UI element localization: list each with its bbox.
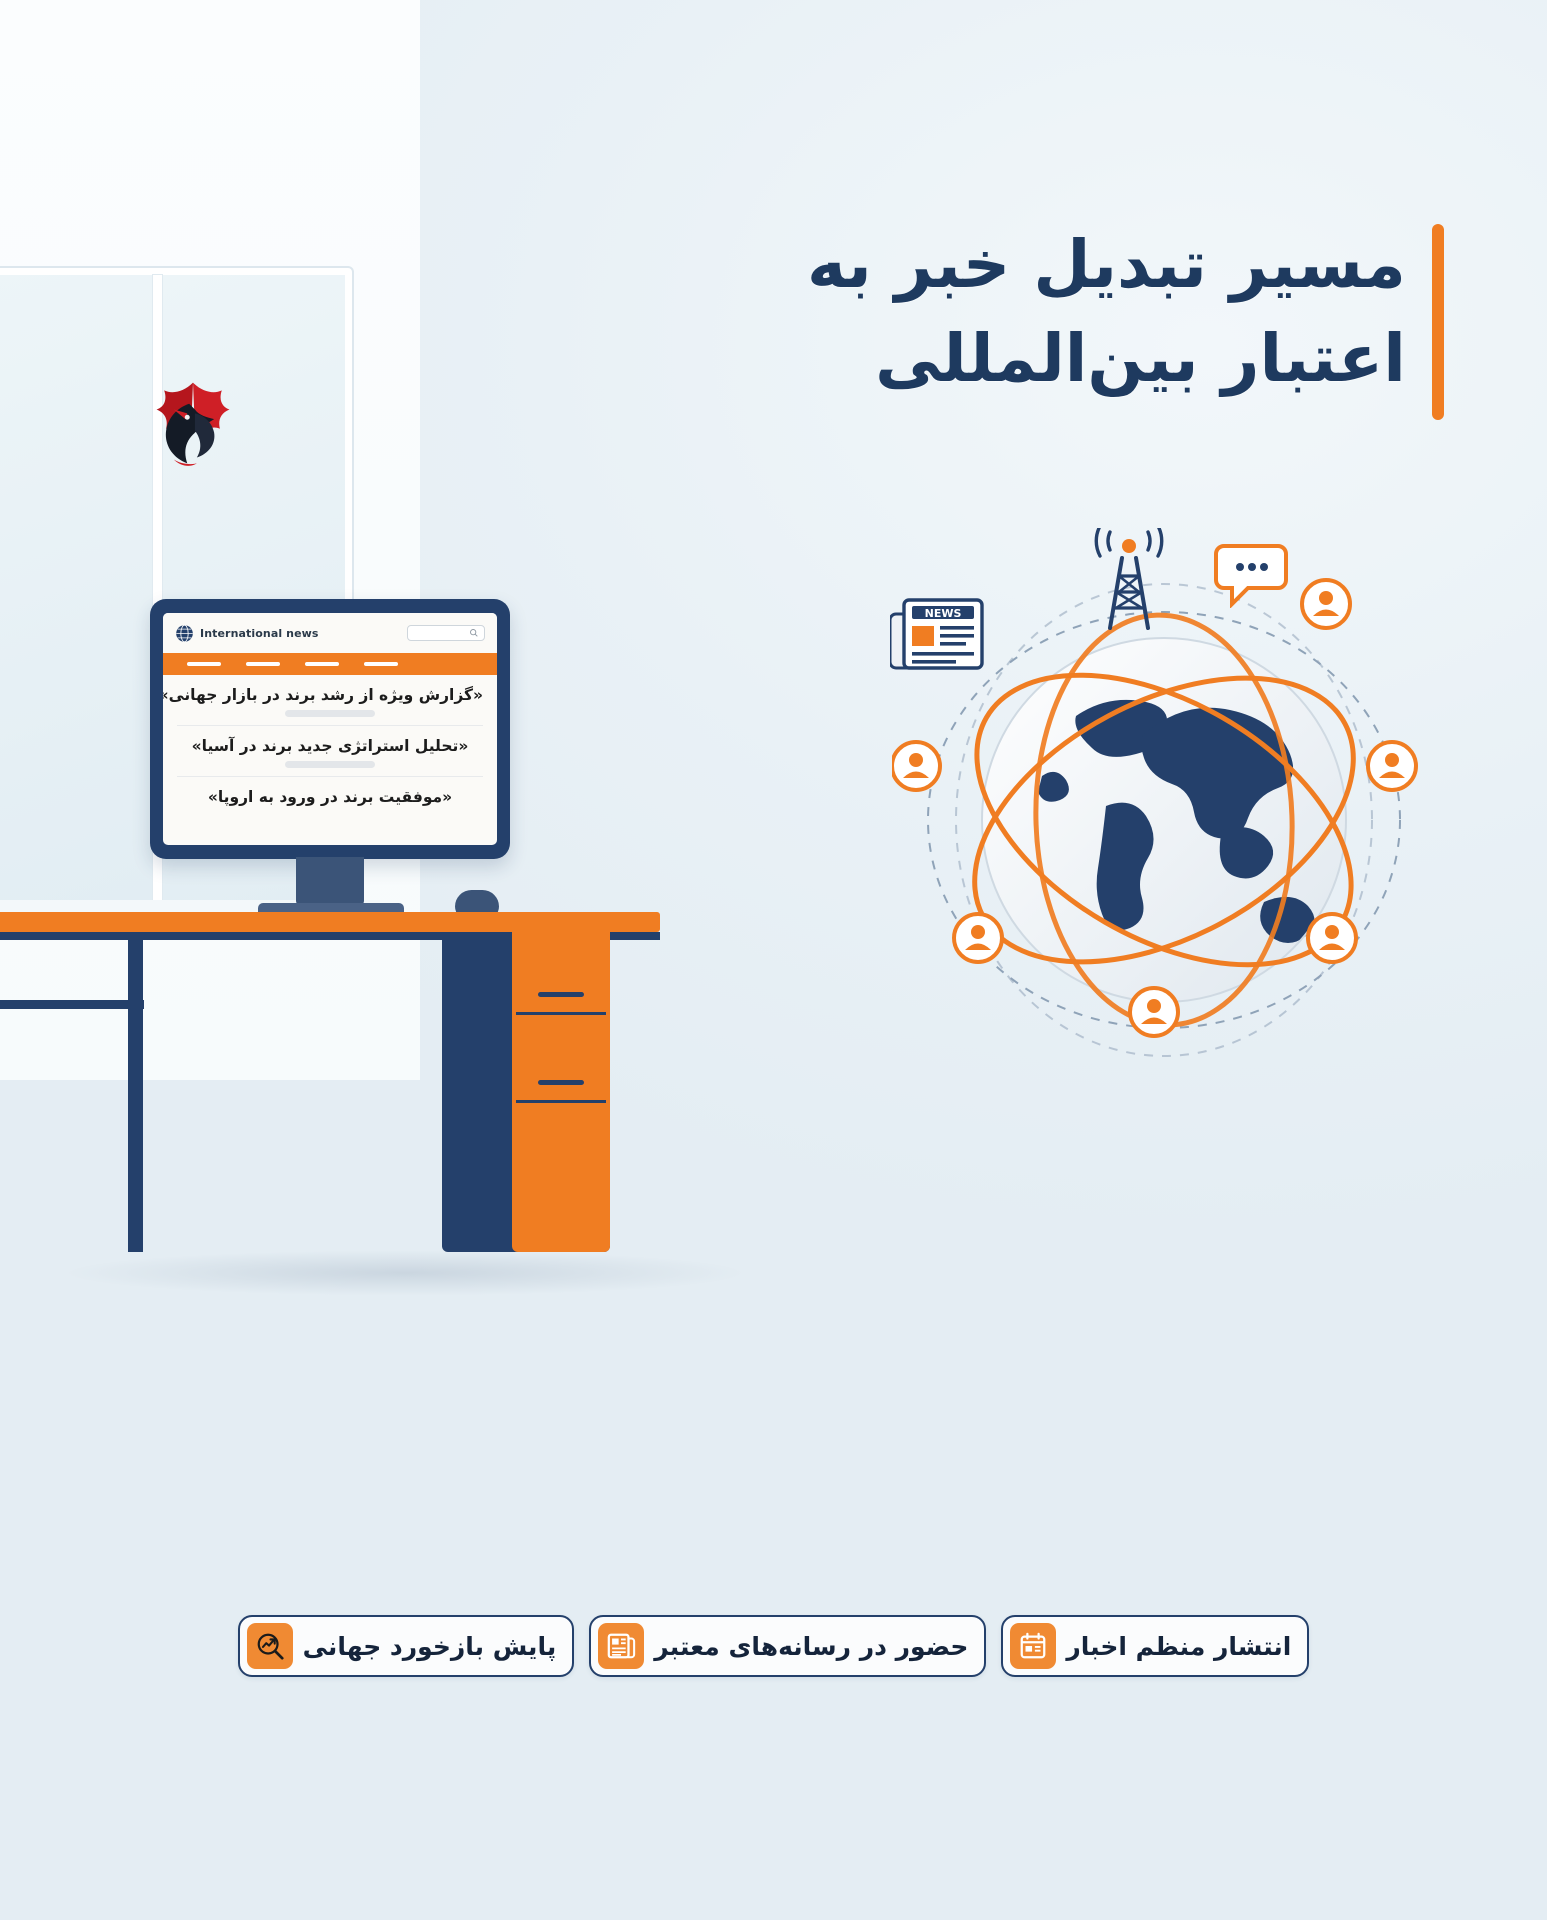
- search-icon: [469, 628, 479, 638]
- global-network-illustration: NEWS: [892, 520, 1432, 1080]
- drawer-divider-2: [516, 1100, 606, 1103]
- monitor-screen: International news «گز: [163, 613, 497, 845]
- news-paper-icon: NEWS: [890, 592, 986, 674]
- nav-item-2[interactable]: [246, 662, 280, 666]
- floor-shadow: [60, 1250, 750, 1296]
- calendar-news-icon: [1010, 1623, 1056, 1669]
- badge-global-feedback-monitoring[interactable]: پایش بازخورد جهانی: [238, 1615, 575, 1677]
- monitor-stand-neck: [296, 857, 364, 905]
- site-brand: International news: [175, 624, 319, 643]
- poster-title: مسیر تبدیل خبر به اعتبار بین‌المللی: [807, 218, 1447, 420]
- news-label: NEWS: [925, 607, 962, 620]
- newspaper-icon: [598, 1623, 644, 1669]
- site-name: International news: [200, 627, 319, 640]
- badge-presence-in-credible-media[interactable]: حضور در رسانه‌های معتبر: [589, 1615, 986, 1677]
- headline-1[interactable]: «گزارش ویژه از رشد برند در بازار جهانی»: [163, 675, 497, 710]
- drawer-divider-1: [516, 1012, 606, 1015]
- desk-top: [0, 912, 660, 932]
- nav-item-1[interactable]: [187, 662, 221, 666]
- drawer-handle-2[interactable]: [538, 1080, 584, 1085]
- poster-canvas: مسیر تبدیل خبر به اعتبار بین‌المللی Inte…: [0, 0, 1547, 1920]
- badge-regular-news-publishing[interactable]: انتشار منظم اخبار: [1001, 1615, 1309, 1677]
- headline-1-underbar: [285, 710, 375, 717]
- feature-badge-row: انتشار منظم اخبار حضور در رسانه‌های معتب…: [0, 1615, 1547, 1677]
- desk-workstation-scene: International news «گز: [0, 560, 790, 1360]
- badge-label-3: پایش بازخورد جهانی: [303, 1634, 557, 1659]
- desk-cabinet-drawers: [512, 932, 610, 1252]
- headline-3[interactable]: «موفقیت برند در ورود به اروپا»: [163, 777, 497, 812]
- nav-item-4[interactable]: [364, 662, 398, 666]
- chat-bubble-icon: [1214, 542, 1288, 608]
- headline-2[interactable]: «تحلیل استراتژی جدید برند در آسیا»: [163, 726, 497, 761]
- title-line-1: مسیر تبدیل خبر به: [807, 218, 1406, 312]
- website-navbar[interactable]: [163, 653, 497, 675]
- title-accent-bar: [1432, 224, 1444, 420]
- monitor: International news «گز: [150, 599, 510, 859]
- desk-leg-inner: [128, 932, 143, 1252]
- badge-label-1: انتشار منظم اخبار: [1066, 1634, 1291, 1659]
- title-line-2: اعتبار بین‌المللی: [807, 312, 1406, 406]
- badge-label-2: حضور در رسانه‌های معتبر: [654, 1634, 968, 1659]
- magnify-chart-icon: [247, 1623, 293, 1669]
- headline-2-underbar: [285, 761, 375, 768]
- desk-rail: [0, 1000, 144, 1009]
- broadcast-tower-icon: [1088, 528, 1170, 632]
- drawer-handle-1[interactable]: [538, 992, 584, 997]
- search-input[interactable]: [407, 625, 485, 641]
- website-header: International news: [163, 613, 497, 653]
- phoenix-bird-logo-icon: [145, 375, 241, 471]
- globe-icon: [175, 624, 194, 643]
- nav-item-3[interactable]: [305, 662, 339, 666]
